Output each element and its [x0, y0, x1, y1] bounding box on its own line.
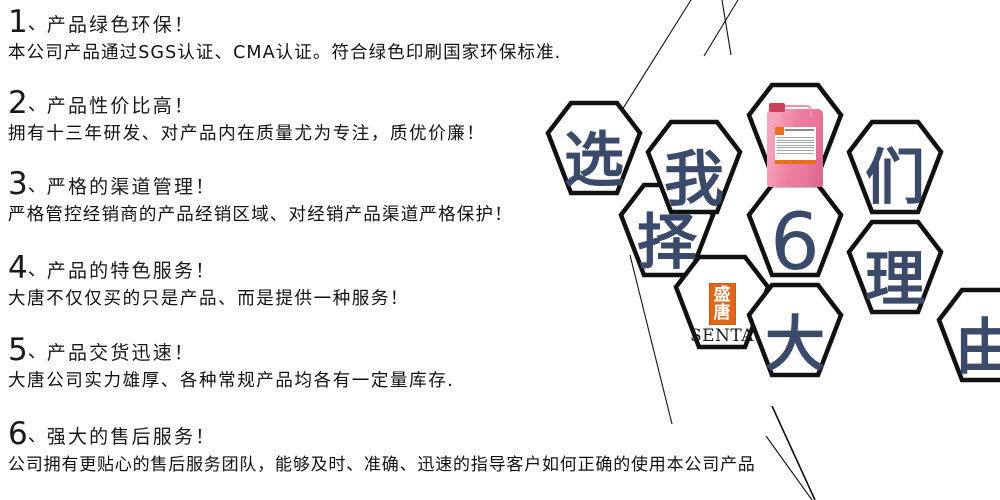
label-line [777, 140, 814, 141]
honeycomb-graphic [0, 0, 1000, 500]
brand-seal-icon: 盛 唐 [709, 283, 736, 325]
label-title-bar [784, 127, 816, 135]
hexagon-cell-xuan [548, 103, 640, 193]
hexagon-cell-six [749, 185, 841, 275]
label-line [777, 147, 814, 148]
jerrycan-cap [769, 103, 785, 112]
jerrycan-handle [782, 105, 812, 117]
label-line [777, 153, 814, 154]
label-footer-bar [775, 160, 816, 164]
label-line [777, 142, 814, 143]
hexagon-cell-you [939, 290, 1000, 380]
product-image-jerrycan [764, 101, 826, 187]
brand-char-top: 盛 [714, 286, 731, 304]
brand-char-bottom: 唐 [714, 304, 731, 322]
brand-logo: 盛 唐 SENTA [679, 283, 765, 346]
label-header [775, 127, 816, 135]
label-line [777, 145, 814, 146]
hexagon-cell-li [849, 222, 941, 312]
jerrycan-label [775, 127, 816, 164]
hexagon-cell-men [849, 122, 941, 212]
promo-banner: 1、产品绿色环保！ 本公司产品通过SGS认证、CMA认证。符合绿色印刷国家环保标… [0, 0, 1000, 500]
label-badge-icon [775, 127, 784, 135]
label-line [777, 137, 814, 138]
label-text-lines [775, 135, 816, 154]
brand-romanized-name: SENTA [679, 326, 765, 346]
label-line [777, 150, 814, 151]
